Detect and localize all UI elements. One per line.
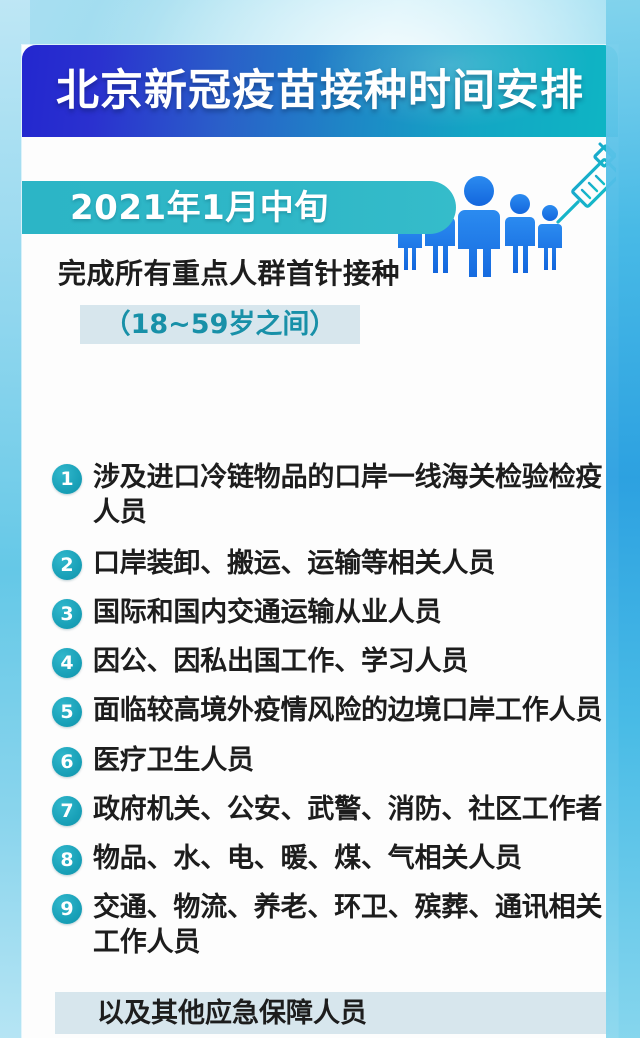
footer-label: 以及其他应急保障人员 bbox=[97, 1000, 367, 1027]
page-title: 北京新冠疫苗接种时间安排 bbox=[56, 70, 584, 113]
list-item-text: 涉及进口冷链物品的口岸一线海关检验检疫人员 bbox=[93, 460, 608, 530]
card-body: 2021年1月中旬 完成所有重点人群首针接种 （18~59岁之间） 1 涉及进口… bbox=[22, 137, 618, 1038]
age-range-label: （18~59岁之间） bbox=[104, 311, 337, 338]
list-item: 9 交通、物流、养老、环卫、殡葬、通讯相关工作人员 bbox=[52, 890, 608, 960]
list-number-badge: 2 bbox=[52, 550, 82, 580]
list-item-text: 因公、因私出国工作、学习人员 bbox=[93, 644, 468, 679]
footer-highlight: 以及其他应急保障人员 bbox=[55, 992, 610, 1034]
list-item: 5 面临较高境外疫情风险的边境口岸工作人员 bbox=[52, 693, 608, 728]
list-number-badge: 9 bbox=[52, 894, 82, 924]
list-item: 6 医疗卫生人员 bbox=[52, 743, 608, 778]
list-item-text: 政府机关、公安、武警、消防、社区工作者 bbox=[93, 792, 602, 827]
list-item: 1 涉及进口冷链物品的口岸一线海关检验检疫人员 bbox=[52, 460, 608, 530]
list-number-badge: 5 bbox=[52, 697, 82, 727]
list-number-badge: 1 bbox=[52, 464, 82, 494]
list-item-text: 面临较高境外疫情风险的边境口岸工作人员 bbox=[93, 693, 602, 728]
list-item: 2 口岸装卸、搬运、运输等相关人员 bbox=[52, 546, 608, 581]
list-item-text: 交通、物流、养老、环卫、殡葬、通讯相关工作人员 bbox=[93, 890, 608, 960]
poster-background: 北京新冠疫苗接种时间安排 bbox=[0, 0, 640, 1038]
headline-text: 完成所有重点人群首针接种 bbox=[58, 260, 400, 288]
age-range-highlight: （18~59岁之间） bbox=[80, 305, 360, 344]
priority-group-list: 1 涉及进口冷链物品的口岸一线海关检验检疫人员 2 口岸装卸、搬运、运输等相关人… bbox=[52, 460, 608, 976]
figure-5 bbox=[538, 205, 562, 270]
figure-3-center bbox=[458, 176, 500, 277]
date-banner: 2021年1月中旬 bbox=[22, 181, 456, 234]
list-number-badge: 3 bbox=[52, 599, 82, 629]
list-item-text: 口岸装卸、搬运、运输等相关人员 bbox=[93, 546, 495, 581]
list-number-badge: 4 bbox=[52, 648, 82, 678]
list-item-text: 物品、水、电、暖、煤、气相关人员 bbox=[93, 841, 522, 876]
header-banner: 北京新冠疫苗接种时间安排 bbox=[22, 45, 618, 137]
list-item: 7 政府机关、公安、武警、消防、社区工作者 bbox=[52, 792, 608, 827]
content-card: 北京新冠疫苗接种时间安排 bbox=[22, 45, 618, 1038]
list-number-badge: 8 bbox=[52, 845, 82, 875]
list-item: 4 因公、因私出国工作、学习人员 bbox=[52, 644, 608, 679]
list-number-badge: 6 bbox=[52, 747, 82, 777]
list-item: 3 国际和国内交通运输从业人员 bbox=[52, 595, 608, 630]
date-banner-label: 2021年1月中旬 bbox=[70, 191, 329, 225]
syringe-icon bbox=[558, 144, 616, 222]
figure-4 bbox=[505, 194, 535, 273]
list-item: 8 物品、水、电、暖、煤、气相关人员 bbox=[52, 841, 608, 876]
list-item-text: 医疗卫生人员 bbox=[93, 743, 254, 778]
list-number-badge: 7 bbox=[52, 796, 82, 826]
list-item-text: 国际和国内交通运输从业人员 bbox=[93, 595, 441, 630]
